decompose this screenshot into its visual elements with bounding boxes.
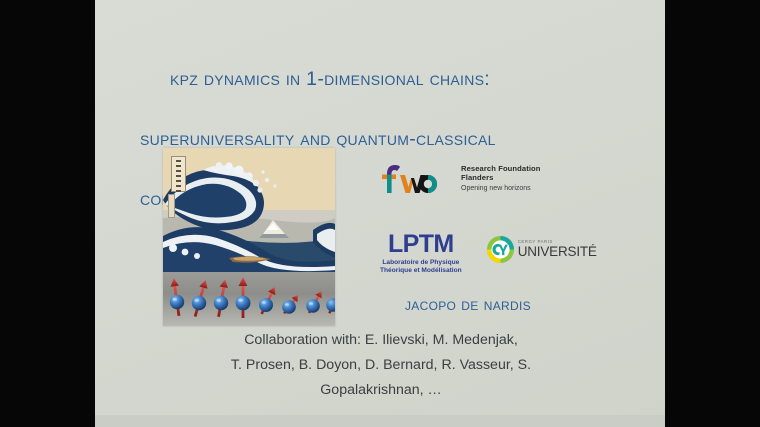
great-wave-image [163, 148, 335, 272]
fwo-logo-text: Research Foundation Flanders Opening new… [461, 165, 541, 193]
cy-logo-icon [486, 235, 515, 264]
title-line-1: KPZ dynamics in 1-dimensional chains: [140, 64, 640, 94]
great-wave-artwork [163, 148, 335, 272]
cy-big-text: UNIVERSITÉ [518, 245, 597, 259]
letterbox-bar-left [0, 0, 95, 427]
cy-universite-logo-block: CERGY PARIS UNIVERSITÉ [486, 235, 597, 264]
collaboration-text: Collaboration with: E. Ilievski, M. Mede… [135, 328, 627, 403]
collaboration-line-3: Gopalakrishnan, … [135, 378, 627, 403]
lptm-wordmark: LPTM [380, 232, 462, 257]
fwo-tagline: Opening new horizons [461, 185, 541, 193]
cartouche-signature-block [168, 194, 175, 218]
video-player-frame: KPZ dynamics in 1-dimensional chains: Su… [0, 0, 760, 427]
spin-chain-diagram [163, 272, 335, 326]
cy-logo-text: CERGY PARIS UNIVERSITÉ [518, 240, 597, 259]
fwo-logo-icon [380, 162, 452, 196]
institution-logos-row: LPTM Laboratoire de Physique Théorique e… [380, 232, 597, 276]
lptm-logo-block: LPTM Laboratoire de Physique Théorique e… [380, 232, 462, 276]
slide-bottom-band [95, 415, 665, 427]
fwo-logo-block: Research Foundation Flanders Opening new… [380, 162, 541, 196]
collaboration-line-1: Collaboration with: E. Ilievski, M. Mede… [135, 328, 627, 353]
fwo-line-2: Flanders [461, 174, 541, 183]
author-name: Jacopo De Nardis [405, 294, 531, 315]
wave-and-spin-chain-figure [163, 148, 335, 326]
spin-chain-image [163, 272, 335, 326]
cartouche-title-block [171, 156, 186, 192]
lptm-subtitle: Laboratoire de Physique Théorique et Mod… [380, 259, 462, 276]
lptm-subtitle-line-2: Théorique et Modélisation [380, 267, 462, 274]
collaboration-line-2: T. Prosen, B. Doyon, D. Bernard, R. Vass… [135, 353, 627, 378]
letterbox-bar-right [665, 0, 760, 427]
presentation-slide: KPZ dynamics in 1-dimensional chains: Su… [95, 0, 665, 427]
lptm-subtitle-line-1: Laboratoire de Physique [382, 259, 459, 266]
